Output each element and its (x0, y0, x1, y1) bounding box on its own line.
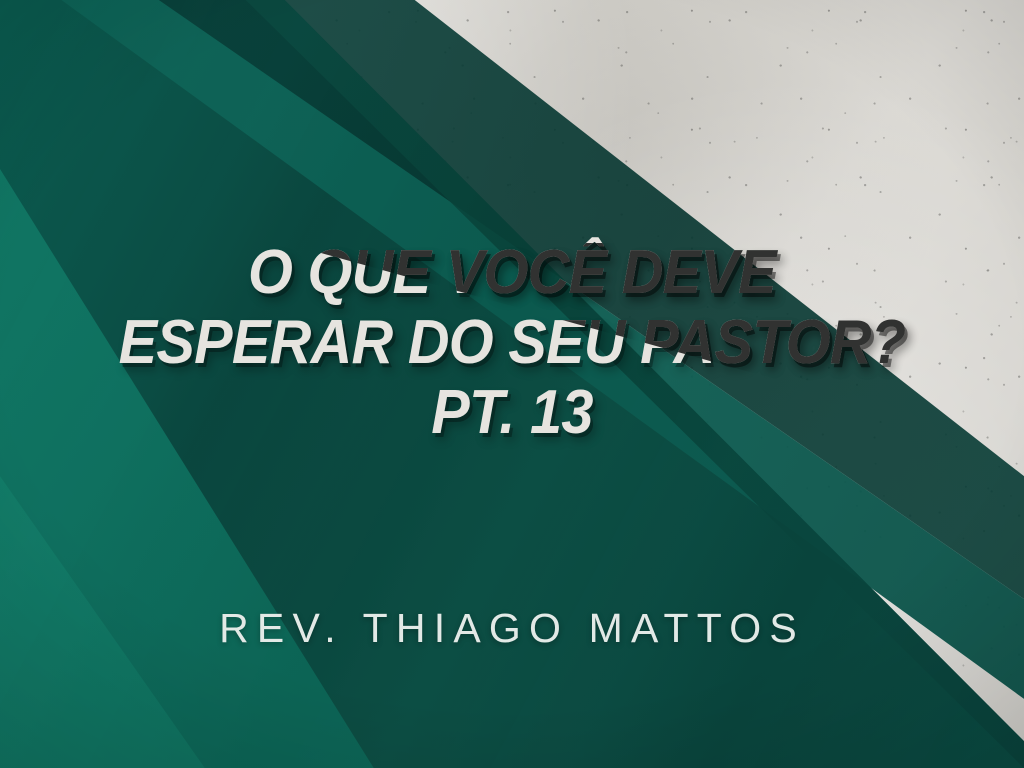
speaker-byline: REV. THIAGO MATTOS (0, 605, 1024, 652)
slide-content: O QUE VOCÊ DEVE ESPERAR DO SEU PASTOR? P… (0, 0, 1024, 768)
slide-canvas: O QUE VOCÊ DEVE ESPERAR DO SEU PASTOR? P… (0, 0, 1024, 768)
